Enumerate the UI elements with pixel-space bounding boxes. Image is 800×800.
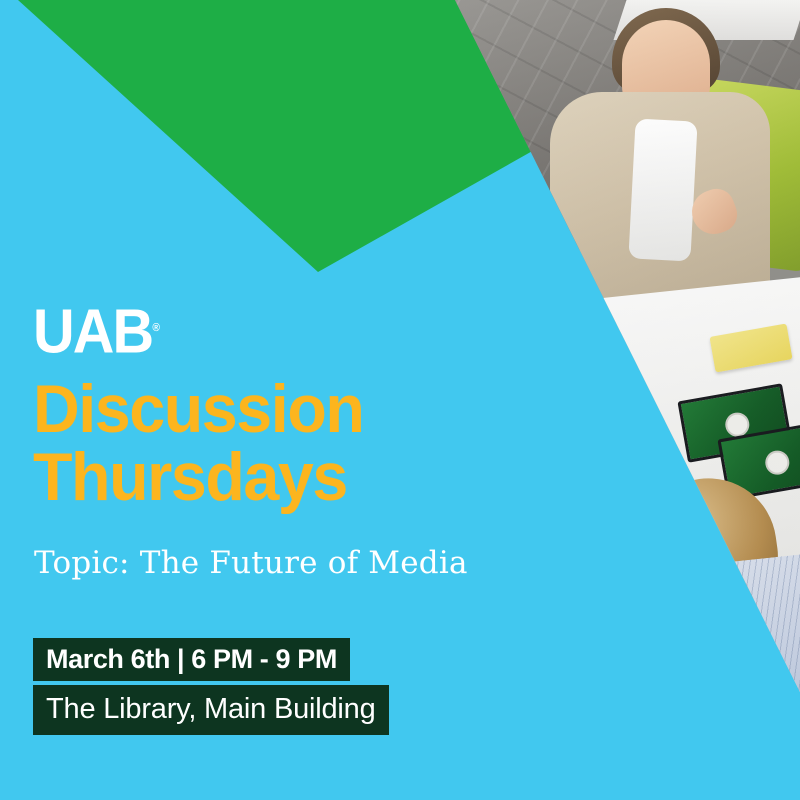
date-time-badge: March 6th | 6 PM - 9 PM [33, 638, 350, 681]
photo-standing-person-shirt [628, 118, 697, 261]
headline-line-1: Discussion [33, 371, 363, 447]
uab-logo: UAB® [33, 297, 160, 364]
uab-logo-text: UAB [33, 298, 152, 367]
event-flyer-poster: UAB® Discussion Thursdays Topic: The Fut… [0, 0, 800, 800]
page-title: Discussion Thursdays [33, 375, 508, 511]
headline-line-2: Thursdays [33, 443, 508, 511]
photo-folder-seal [763, 449, 791, 477]
poster-text-content: UAB® Discussion Thursdays Topic: The Fut… [33, 0, 553, 800]
topic-subtitle: Topic: The Future of Media [34, 543, 468, 583]
registered-trademark-icon: ® [152, 322, 160, 334]
venue-badge: The Library, Main Building [33, 685, 389, 735]
